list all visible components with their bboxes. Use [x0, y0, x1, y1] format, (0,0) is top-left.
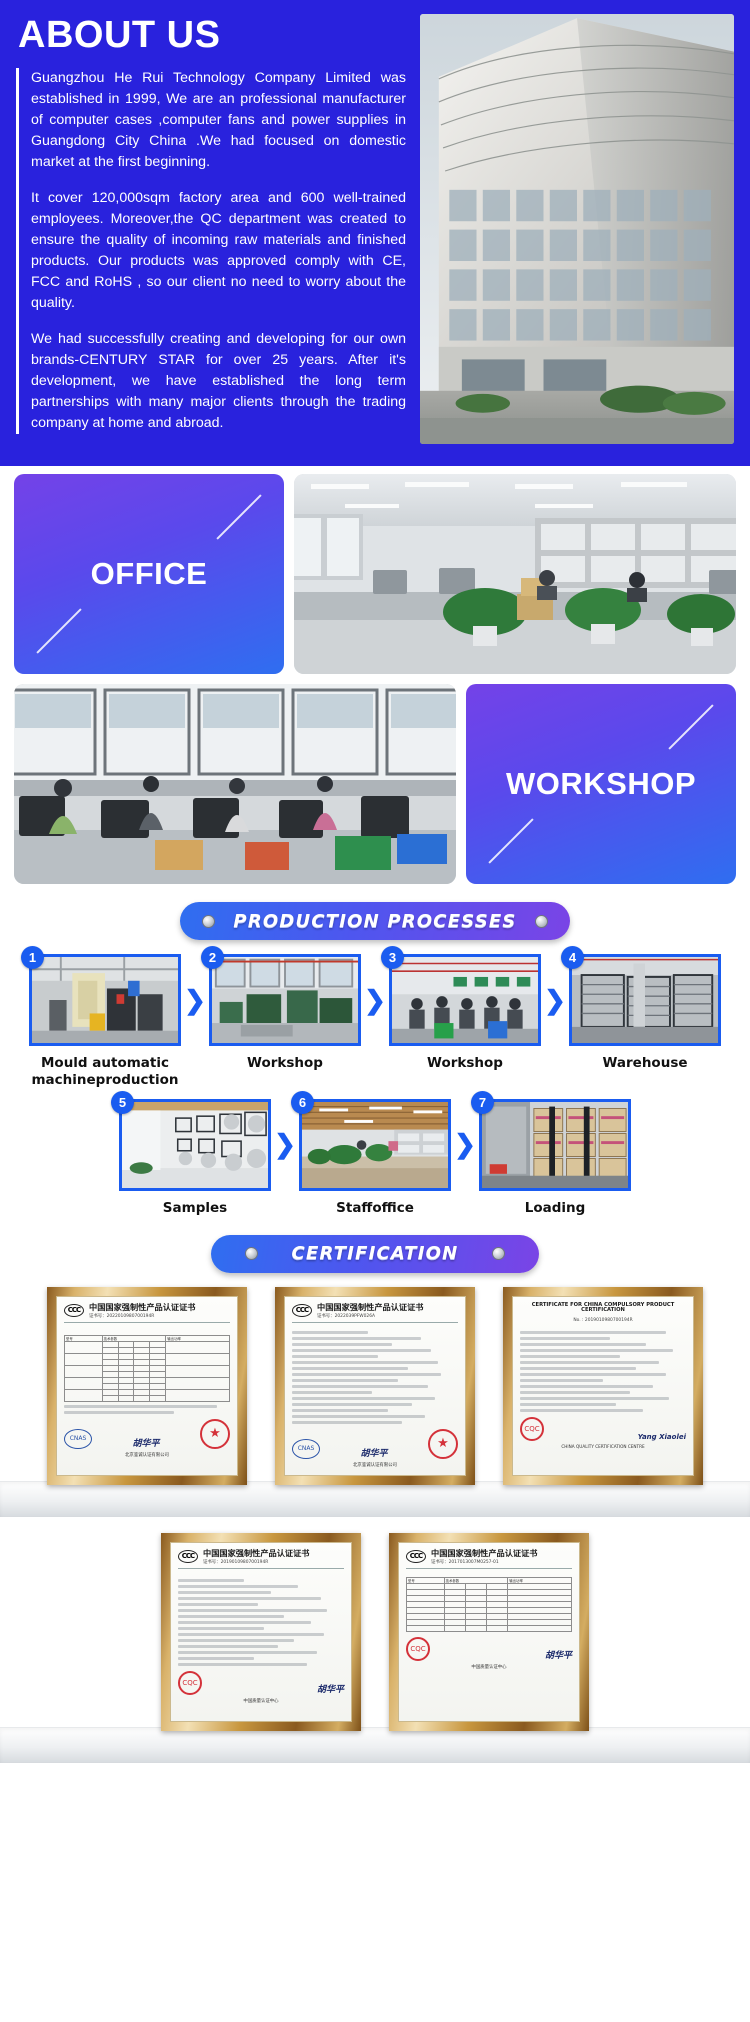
samples-showroom-illustration [122, 1102, 268, 1188]
about-paragraphs: Guangzhou He Rui Technology Company Limi… [16, 68, 406, 434]
step-number: 4 [561, 946, 584, 969]
step-photo [119, 1099, 271, 1191]
certificate-number: No. : 2019010980700194R [520, 1318, 686, 1323]
process-step[interactable]: 3 [389, 954, 541, 1072]
step-photo [479, 1099, 631, 1191]
chevron-right-icon: ❯ [271, 1099, 299, 1191]
ccc-mark-icon: CCC [178, 1550, 198, 1563]
step-caption: Loading [479, 1200, 631, 1217]
bolt-icon-right [535, 915, 548, 928]
decor-slash-bottom-left [36, 608, 81, 653]
step-number: 2 [201, 946, 224, 969]
certificate-issuer: 北京鉴诚认证有限公司 [292, 1462, 458, 1468]
mould-machine-illustration [32, 957, 178, 1043]
workshop-green-machines-illustration [212, 957, 358, 1043]
step-number: 5 [111, 1091, 134, 1114]
signature: 胡华平 [317, 1682, 344, 1695]
step-number: 7 [471, 1091, 494, 1114]
process-steps-row-1: 1 [10, 954, 740, 1089]
ccc-mark-icon: CCC [64, 1304, 84, 1317]
warehouse-racks-illustration [572, 957, 718, 1043]
step-caption: Mould automatic machineproduction [29, 1055, 181, 1089]
process-step[interactable]: 7 [479, 1099, 631, 1217]
step-caption: Samples [119, 1200, 271, 1217]
tile-workshop-label: WORKSHOP [506, 766, 696, 802]
about-paragraph-2: It cover 120,000sqm factory area and 600… [31, 188, 406, 314]
certificate-shelf-1: CCC 中国国家强制性产品认证证书 证书号：2022010980700194R … [0, 1287, 750, 1517]
step-number: 6 [291, 1091, 314, 1114]
certification-banner: CERTIFICATION [211, 1235, 540, 1273]
signature: Yang Xiaolei [638, 1433, 686, 1441]
certificate-row-2: CCC 中国国家强制性产品认证证书 证书号：2019010980700194R [0, 1533, 750, 1731]
step-caption: Warehouse [569, 1055, 721, 1072]
step-caption: Staffoffice [299, 1200, 451, 1217]
about-paragraph-3: We had successfully creating and develop… [31, 329, 406, 434]
decor-slash-top-right [668, 704, 713, 749]
certificate-number: 证书号：2022010980700194R [89, 1313, 195, 1319]
certificate-issuer: CHINA QUALITY CERTIFICATION CENTRE [520, 1444, 686, 1449]
cnas-logo-icon: CNAS [292, 1439, 320, 1459]
staff-office-illustration [302, 1102, 448, 1188]
certificate-row-1: CCC 中国国家强制性产品认证证书 证书号：2022010980700194R … [0, 1287, 750, 1485]
certification-banner-label: CERTIFICATION [292, 1243, 459, 1264]
bolt-icon-left [245, 1247, 258, 1260]
ccc-mark-icon: CCC [292, 1304, 312, 1317]
certificate-card[interactable]: CCC 中国国家强制性产品认证证书 证书号：2022039PFW026A [275, 1287, 475, 1485]
building-illustration [420, 14, 734, 444]
chevron-right-icon: ❯ [181, 954, 209, 1046]
company-profile-page: ABOUT US Guangzhou He Rui Technology Com… [0, 0, 750, 1773]
cqc-seal-icon: CQC [178, 1671, 202, 1695]
certificates-section: CCC 中国国家强制性产品认证证书 证书号：2022010980700194R … [0, 1287, 750, 1773]
display-shelf [0, 1727, 750, 1763]
tile-label-workshop: WORKSHOP [466, 684, 736, 884]
certificate-card[interactable]: CCC 中国国家强制性产品认证证书 证书号：2022010980700194R … [47, 1287, 247, 1485]
certificate-issuer: 北京鉴诚认证有限公司 [64, 1452, 230, 1458]
certificate-spec-table: 型号技术参数输出功率 [406, 1577, 572, 1632]
certificate-number: 证书号：2022039PFW026A [317, 1313, 423, 1319]
certificate-title: CERTIFICATE FOR CHINA COMPULSORY PRODUCT… [520, 1303, 686, 1314]
step-caption: Workshop [209, 1055, 361, 1072]
step-photo [209, 954, 361, 1046]
workshop-photo [14, 684, 456, 884]
cqc-seal-icon: CQC [520, 1417, 544, 1441]
certificate-issuer: 中国质量认证中心 [406, 1664, 572, 1670]
chevron-right-icon: ❯ [451, 1099, 479, 1191]
red-seal-icon: ★ [200, 1419, 230, 1449]
assembly-workshop-illustration [392, 957, 538, 1043]
step-photo [29, 954, 181, 1046]
step-photo [569, 954, 721, 1046]
process-step[interactable]: 4 [569, 954, 721, 1072]
certificate-card[interactable]: CCC 中国国家强制性产品认证证书 证书号：2017013007M0257-01… [389, 1533, 589, 1731]
decor-slash-top-right [216, 494, 261, 539]
certificate-shelf-2: CCC 中国国家强制性产品认证证书 证书号：2019010980700194R [0, 1533, 750, 1763]
ccc-mark-icon: CCC [406, 1550, 426, 1563]
step-photo [299, 1099, 451, 1191]
cnas-logo-icon: CNAS [64, 1429, 92, 1449]
about-us-section: ABOUT US Guangzhou He Rui Technology Com… [0, 0, 750, 466]
signature: 胡华平 [132, 1436, 159, 1449]
certificate-title: 中国国家强制性产品认证证书 [203, 1549, 309, 1558]
about-paragraph-1: Guangzhou He Rui Technology Company Limi… [31, 68, 406, 173]
step-number: 1 [21, 946, 44, 969]
certificate-spec-table: 型号技术参数输出功率 [64, 1335, 230, 1402]
facility-tiles-section: OFFICE [0, 466, 750, 884]
certificate-title: 中国国家强制性产品认证证书 [317, 1303, 423, 1312]
certificate-card[interactable]: CERTIFICATE FOR CHINA COMPULSORY PRODUCT… [503, 1287, 703, 1485]
workshop-illustration [14, 684, 456, 884]
office-illustration [294, 474, 736, 674]
display-shelf [0, 1481, 750, 1517]
loading-truck-illustration [482, 1102, 628, 1188]
decor-slash-bottom-left [488, 818, 533, 863]
production-steps-section: 1 [0, 954, 750, 1217]
cqc-seal-icon: CQC [406, 1637, 430, 1661]
certification-banner-wrap: CERTIFICATION [0, 1235, 750, 1273]
chevron-right-icon: ❯ [541, 954, 569, 1046]
signature: 胡华平 [360, 1446, 387, 1459]
certificate-issuer: 中国质量认证中心 [178, 1698, 344, 1704]
production-processes-banner: PRODUCTION PROCESSES [180, 902, 569, 940]
about-text-column: ABOUT US Guangzhou He Rui Technology Com… [16, 14, 406, 444]
red-seal-icon: ★ [428, 1429, 458, 1459]
office-photo [294, 474, 736, 674]
process-step[interactable]: 6 [299, 1099, 451, 1217]
page-title: ABOUT US [18, 16, 406, 54]
certificate-card[interactable]: CCC 中国国家强制性产品认证证书 证书号：2019010980700194R [161, 1533, 361, 1731]
certificate-number: 证书号：2019010980700194R [203, 1559, 309, 1565]
production-banner-wrap: PRODUCTION PROCESSES [0, 902, 750, 940]
process-step[interactable]: 1 [29, 954, 181, 1089]
chevron-right-icon: ❯ [361, 954, 389, 1046]
certificate-title: 中国国家强制性产品认证证书 [89, 1303, 195, 1312]
tile-label-office: OFFICE [14, 474, 284, 674]
tile-office-label: OFFICE [91, 556, 208, 592]
certificate-number: 证书号：2017013007M0257-01 [431, 1559, 537, 1565]
production-banner-label: PRODUCTION PROCESSES [233, 911, 516, 932]
step-number: 3 [381, 946, 404, 969]
signature: 胡华平 [545, 1648, 572, 1661]
process-step[interactable]: 2 [209, 954, 361, 1072]
step-caption: Workshop [389, 1055, 541, 1072]
bolt-icon-left [202, 915, 215, 928]
workshop-row: WORKSHOP [14, 684, 736, 884]
process-step[interactable]: 5 [119, 1099, 271, 1217]
step-photo [389, 954, 541, 1046]
process-steps-row-2: 5 [10, 1099, 740, 1217]
certificate-title: 中国国家强制性产品认证证书 [431, 1549, 537, 1558]
company-building-photo [420, 14, 734, 444]
office-row: OFFICE [14, 474, 736, 674]
bolt-icon-right [492, 1247, 505, 1260]
